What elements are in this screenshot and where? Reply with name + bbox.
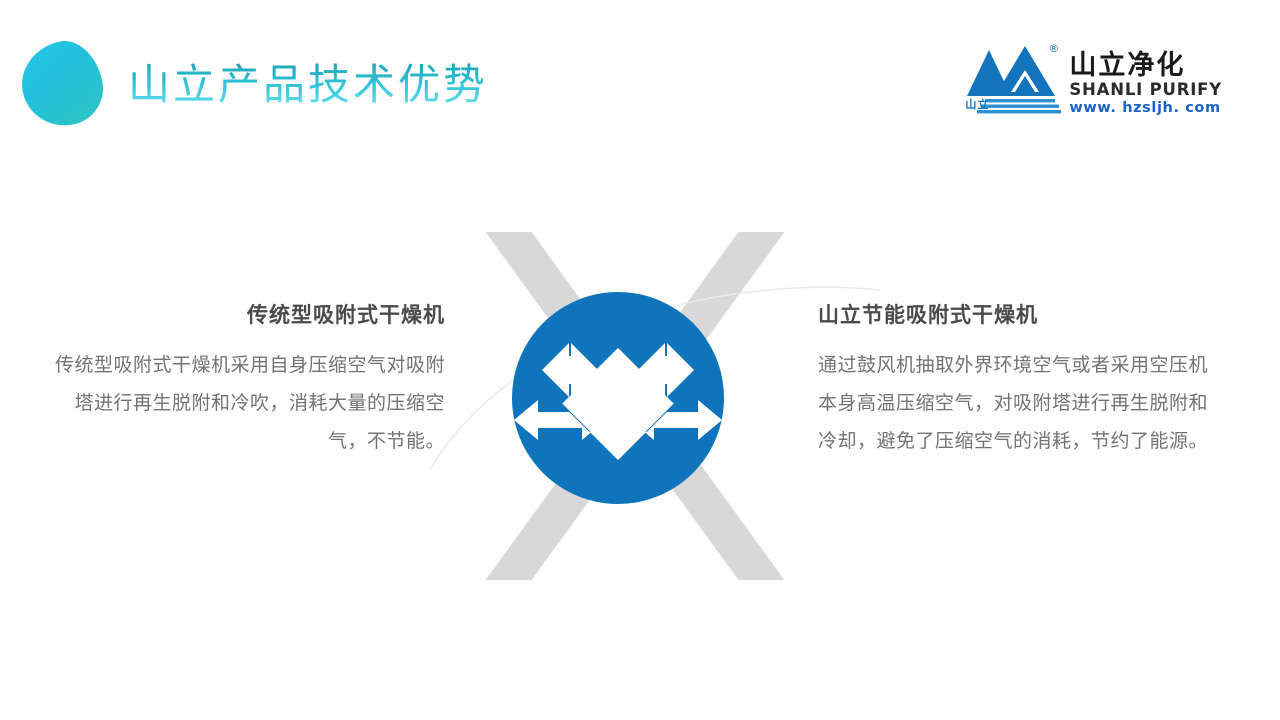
logo-mark-label: 山立 <box>965 96 989 112</box>
logo-website-url: www. hzsljh. com <box>1069 100 1222 117</box>
page-title: 山立产品技术优势 <box>128 61 488 109</box>
column-right-heading: 山立节能吸附式干燥机 <box>818 303 1208 328</box>
header-blob-decoration <box>14 35 110 134</box>
registered-trademark-icon: ® <box>1048 42 1059 55</box>
mountain-logo-icon: ® 山立 <box>965 40 1061 114</box>
logo-company-cn: 山立净化 <box>1069 52 1222 80</box>
company-logo: ® 山立 山立净化 SHANLI PURIFY www. hzsljh. com <box>965 40 1222 118</box>
logo-text-block: 山立净化 SHANLI PURIFY www. hzsljh. com <box>1069 40 1222 118</box>
slide-canvas: 山立产品技术优势 ® 山立 山立净化 SHANLI PURIFY www. hz… <box>0 0 1280 720</box>
column-left-body: 传统型吸附式干燥机采用自身压缩空气对吸附塔进行再生脱附和冷吹，消耗大量的压缩空气… <box>55 346 445 460</box>
column-shanli-dryer: 山立节能吸附式干燥机 通过鼓风机抽取外界环境空气或者采用空压机本身高温压缩空气，… <box>818 303 1208 460</box>
column-traditional-dryer: 传统型吸附式干燥机 传统型吸附式干燥机采用自身压缩空气对吸附塔进行再生脱附和冷吹… <box>55 303 445 460</box>
center-icon-circle <box>512 292 724 504</box>
column-right-body: 通过鼓风机抽取外界环境空气或者采用空压机本身高温压缩空气，对吸附塔进行再生脱附和… <box>818 346 1208 460</box>
logo-company-en: SHANLI PURIFY <box>1069 80 1222 100</box>
airflow-diamond-arrows-icon <box>512 292 724 504</box>
column-left-heading: 传统型吸附式干燥机 <box>55 303 445 328</box>
